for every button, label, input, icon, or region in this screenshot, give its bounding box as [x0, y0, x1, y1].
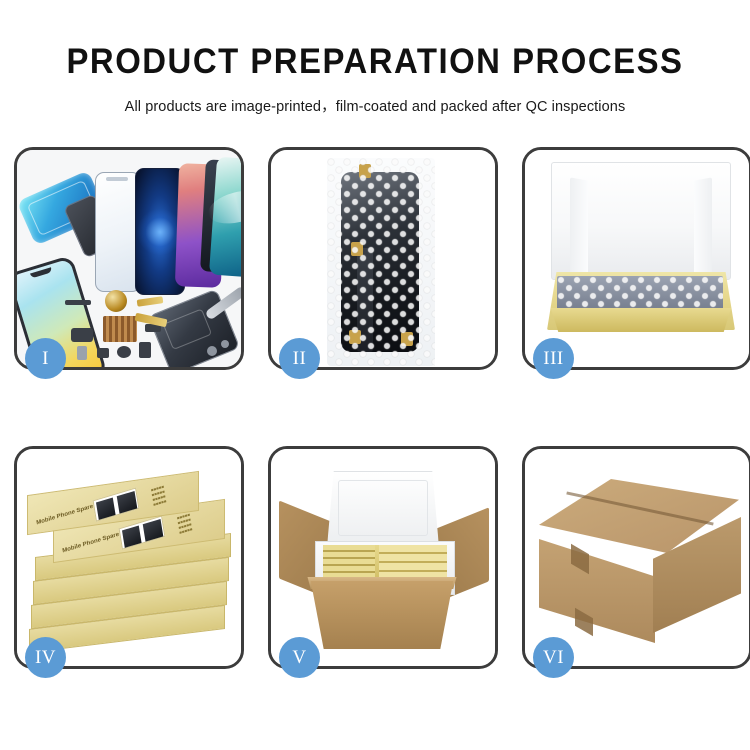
page-subtitle: All products are image-printed，film-coat… — [0, 95, 750, 116]
box-window-1-phone-b — [117, 491, 138, 514]
flex-cable-top — [137, 296, 164, 307]
process-step-6[interactable]: VI — [522, 446, 750, 669]
step-4-badge: IV — [25, 637, 66, 678]
copper-chip-part — [103, 316, 137, 342]
bubble-wrap-layer — [557, 276, 723, 310]
speaker-coin-part — [105, 290, 127, 312]
step-5-badge: V — [279, 637, 320, 678]
small-part-camera — [139, 342, 151, 358]
small-part-button — [117, 346, 131, 358]
white-box-lid — [551, 162, 731, 280]
process-step-1[interactable]: I — [14, 147, 244, 370]
box-window-2-phone-a — [122, 525, 142, 547]
process-step-4[interactable]: Mobile Phone Spare Parts ■■■■■■■■■■■■■■■… — [14, 446, 244, 669]
step-3-photo — [525, 150, 749, 367]
process-step-5[interactable]: V — [268, 446, 498, 669]
header: PRODUCT PREPARATION PROCESS All products… — [0, 0, 750, 116]
bubble-texture-highlight — [327, 158, 435, 366]
step-1-badge: I — [25, 338, 66, 379]
step-2-photo — [271, 150, 495, 367]
kraft-box-front — [547, 308, 735, 332]
small-part-clip — [97, 348, 109, 358]
carton-left-face — [539, 539, 655, 643]
box-window-2-phone-b — [143, 519, 164, 542]
process-step-2[interactable]: II — [268, 147, 498, 370]
screw-part-a — [207, 346, 217, 356]
step-4-photo: Mobile Phone Spare Parts ■■■■■■■■■■■■■■■… — [17, 449, 241, 666]
page-title: PRODUCT PREPARATION PROCESS — [23, 44, 728, 79]
box-spec-text-2: ■■■■■■■■■■■■■■■■■■■■ — [177, 512, 193, 535]
box-window-1 — [93, 487, 140, 521]
product-preparation-infographic: PRODUCT PREPARATION PROCESS All products… — [0, 0, 750, 750]
lid-flap-left — [570, 177, 588, 276]
process-step-3[interactable]: III — [522, 147, 750, 370]
process-step-grid: I II — [14, 147, 736, 692]
box-spec-text-1: ■■■■■■■■■■■■■■■■■■■■ — [151, 484, 167, 507]
small-part-sim — [77, 346, 87, 360]
step-2-badge: II — [279, 338, 320, 379]
lid-flap-right — [694, 177, 712, 276]
retail-box-stack: Mobile Phone Spare Parts ■■■■■■■■■■■■■■■… — [25, 467, 237, 657]
screw-part-b — [221, 340, 229, 348]
step-5-photo — [271, 449, 495, 666]
step-6-photo — [525, 449, 749, 666]
step-6-badge: VI — [533, 637, 574, 678]
carton-front-wall — [301, 581, 463, 649]
step-3-badge: III — [533, 338, 574, 379]
step-1-photo — [17, 150, 241, 367]
small-part-bar — [65, 300, 91, 305]
bubble-wrap-bag — [327, 158, 435, 366]
box-window-1-phone-a — [96, 497, 116, 519]
small-part-block — [71, 328, 93, 342]
bubble-layer-highlight — [557, 276, 723, 310]
foam-lid — [327, 471, 439, 547]
